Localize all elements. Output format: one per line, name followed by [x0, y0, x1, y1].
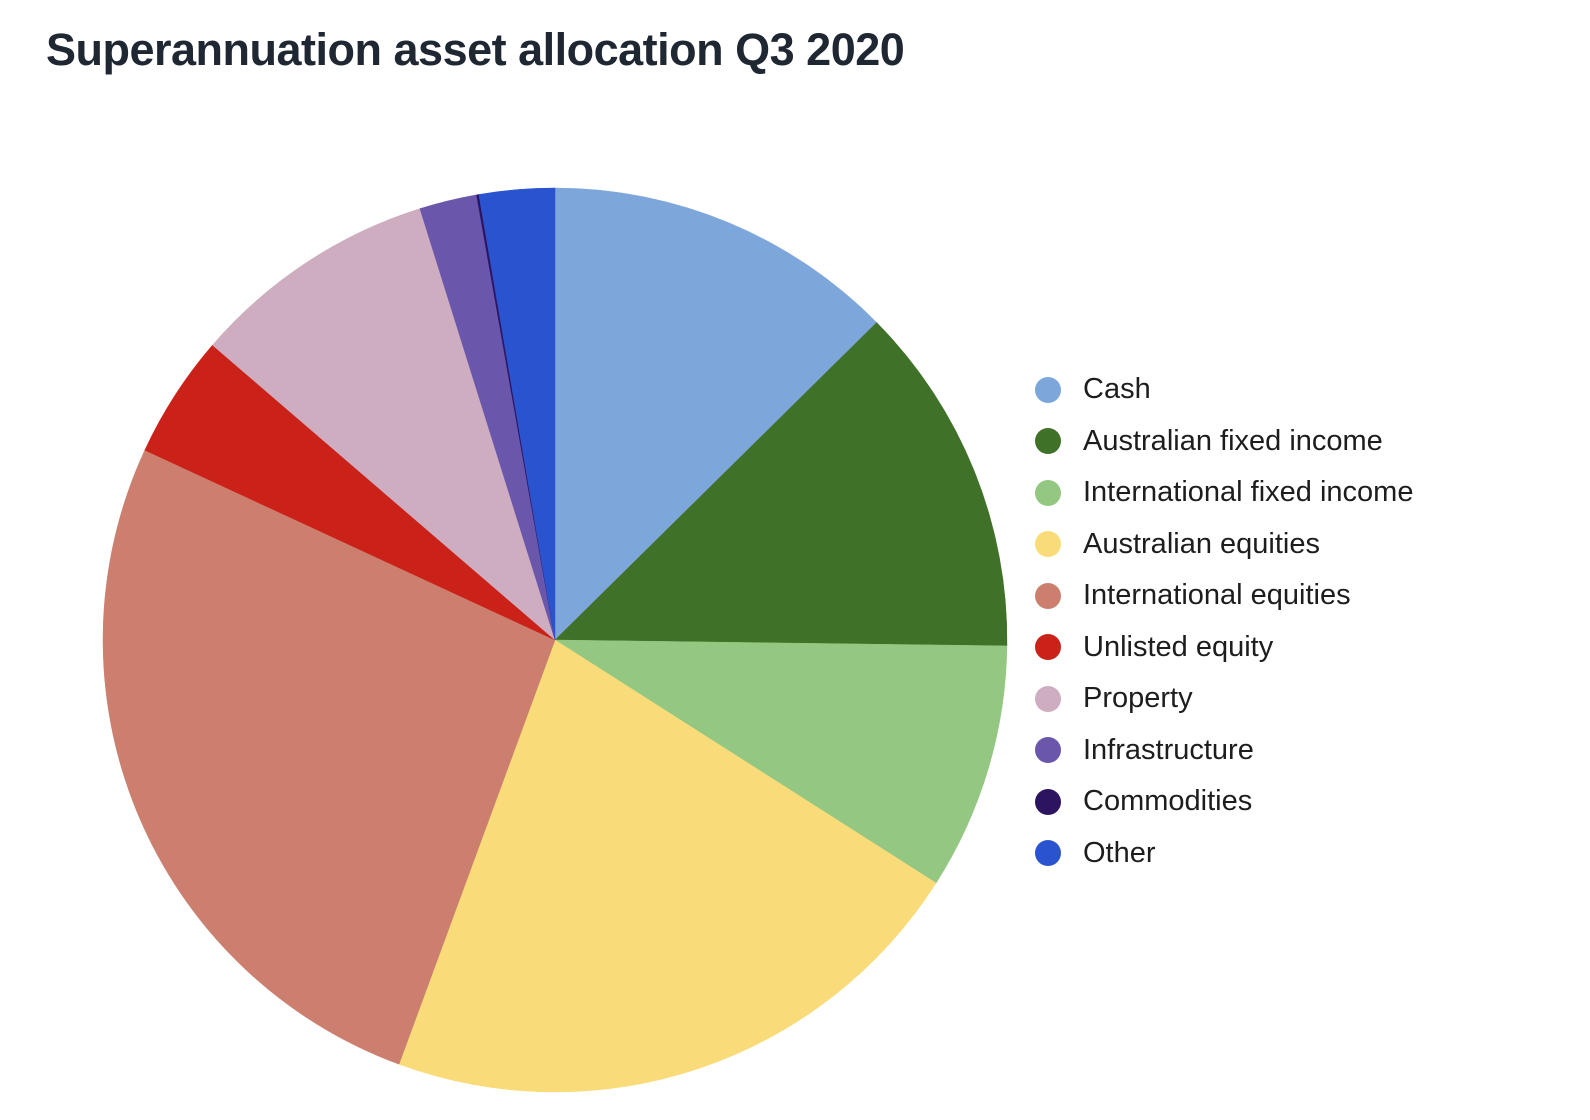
- chart-title: Superannuation asset allocation Q3 2020: [46, 24, 904, 76]
- pie-slice-group: Cash: 12.6%Australian fixed income: 12.6…: [103, 188, 1007, 1092]
- legend-swatch-icon: [1035, 531, 1061, 557]
- pie-svg: Cash: 12.6%Australian fixed income: 12.6…: [90, 175, 1020, 1105]
- legend-item[interactable]: International equities: [1035, 570, 1505, 622]
- legend-swatch-icon: [1035, 583, 1061, 609]
- legend-item[interactable]: Australian fixed income: [1035, 416, 1505, 468]
- legend-swatch-icon: [1035, 480, 1061, 506]
- legend-item-label: Other: [1083, 839, 1156, 868]
- legend-item-label: Australian fixed income: [1083, 427, 1383, 456]
- legend-swatch-icon: [1035, 634, 1061, 660]
- legend-swatch-icon: [1035, 428, 1061, 454]
- legend-swatch-icon: [1035, 789, 1061, 815]
- legend-item-label: Australian equities: [1083, 530, 1320, 559]
- legend-swatch-icon: [1035, 737, 1061, 763]
- legend-swatch-icon: [1035, 840, 1061, 866]
- legend-item[interactable]: Other: [1035, 828, 1505, 880]
- legend-item[interactable]: Property: [1035, 673, 1505, 725]
- legend-swatch-icon: [1035, 686, 1061, 712]
- legend-item-label: Property: [1083, 684, 1193, 713]
- pie-chart-figure: Superannuation asset allocation Q3 2020 …: [0, 0, 1590, 1120]
- chart-legend: CashAustralian fixed incomeInternational…: [1035, 364, 1505, 879]
- pie-plot-area: Cash: 12.6%Australian fixed income: 12.6…: [90, 175, 1020, 1105]
- legend-item[interactable]: Unlisted equity: [1035, 622, 1505, 674]
- legend-item-label: Unlisted equity: [1083, 633, 1273, 662]
- legend-item-label: Cash: [1083, 375, 1151, 404]
- legend-item-label: International fixed income: [1083, 478, 1413, 507]
- legend-item[interactable]: International fixed income: [1035, 467, 1505, 519]
- legend-item[interactable]: Australian equities: [1035, 519, 1505, 571]
- legend-swatch-icon: [1035, 377, 1061, 403]
- legend-item[interactable]: Infrastructure: [1035, 725, 1505, 777]
- legend-item-label: International equities: [1083, 581, 1351, 610]
- legend-item-label: Infrastructure: [1083, 736, 1254, 765]
- legend-item-label: Commodities: [1083, 787, 1252, 816]
- legend-item[interactable]: Commodities: [1035, 776, 1505, 828]
- legend-item[interactable]: Cash: [1035, 364, 1505, 416]
